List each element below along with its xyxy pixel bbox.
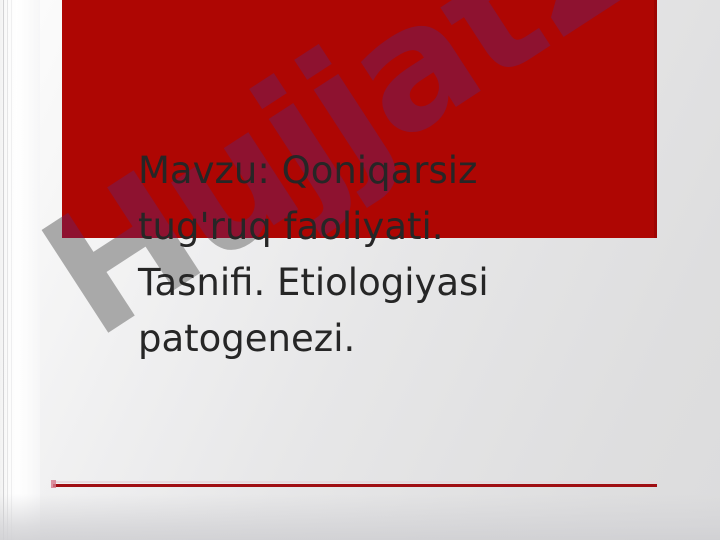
title-line-1: Mavzu: Qoniqarsiz: [138, 143, 608, 199]
title-line-2: tug'ruq faoliyati.: [138, 199, 608, 255]
background-hairline: [7, 0, 8, 540]
presentation-slide: Hujjat24 Hujjat24 Mavzu: Qoniqarsiz tug'…: [0, 0, 720, 540]
bottom-rule-cap: [51, 480, 56, 488]
title-line-4: patogenezi.: [138, 311, 608, 367]
background-bottom-band: [0, 494, 720, 540]
background-hairline: [3, 0, 4, 540]
background-left-sheen: [0, 0, 40, 540]
bottom-rule: [53, 484, 657, 487]
bottom-rule-highlight: [53, 481, 657, 483]
title-line-3: Tasnifi. Etiologiyasi: [138, 255, 608, 311]
background-hairline: [11, 0, 12, 540]
slide-title: Mavzu: Qoniqarsiz tug'ruq faoliyati. Tas…: [138, 143, 608, 367]
